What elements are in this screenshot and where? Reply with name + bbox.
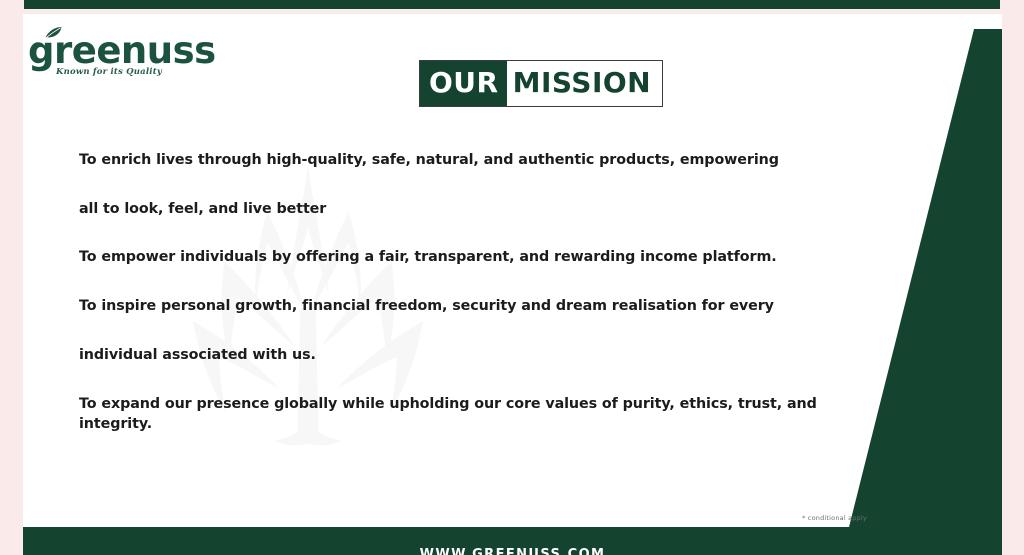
brand-logo[interactable]: greenuss Known for its Quality (28, 32, 216, 76)
slide-viewport: greenuss Known for its Quality OUR MISSI… (0, 0, 1024, 555)
logo-mark: greenuss (28, 32, 216, 71)
mission-statement-list: To enrich lives through high-quality, sa… (79, 150, 869, 435)
mission-line: individual associated with us. (79, 345, 869, 366)
title-word-our: OUR (420, 61, 507, 106)
slide-footer: WWW.GREENUSS.COM (23, 527, 1002, 555)
slide-title-banner: OUR MISSION (419, 60, 663, 107)
mission-line: To empower individuals by offering a fai… (79, 247, 869, 268)
top-accent-bar (24, 0, 1000, 9)
mission-line: To expand our presence globally while up… (79, 394, 869, 435)
mission-line: To inspire personal growth, financial fr… (79, 296, 869, 317)
footer-website-url[interactable]: WWW.GREENUSS.COM (420, 547, 606, 555)
footnote-text: * conditional apply (802, 514, 867, 522)
leaf-icon (44, 26, 63, 39)
mission-line: all to look, feel, and live better (79, 199, 869, 220)
presentation-slide: greenuss Known for its Quality OUR MISSI… (23, 14, 1002, 555)
mission-line: To enrich lives through high-quality, sa… (79, 150, 869, 171)
title-word-mission: MISSION (507, 61, 663, 106)
